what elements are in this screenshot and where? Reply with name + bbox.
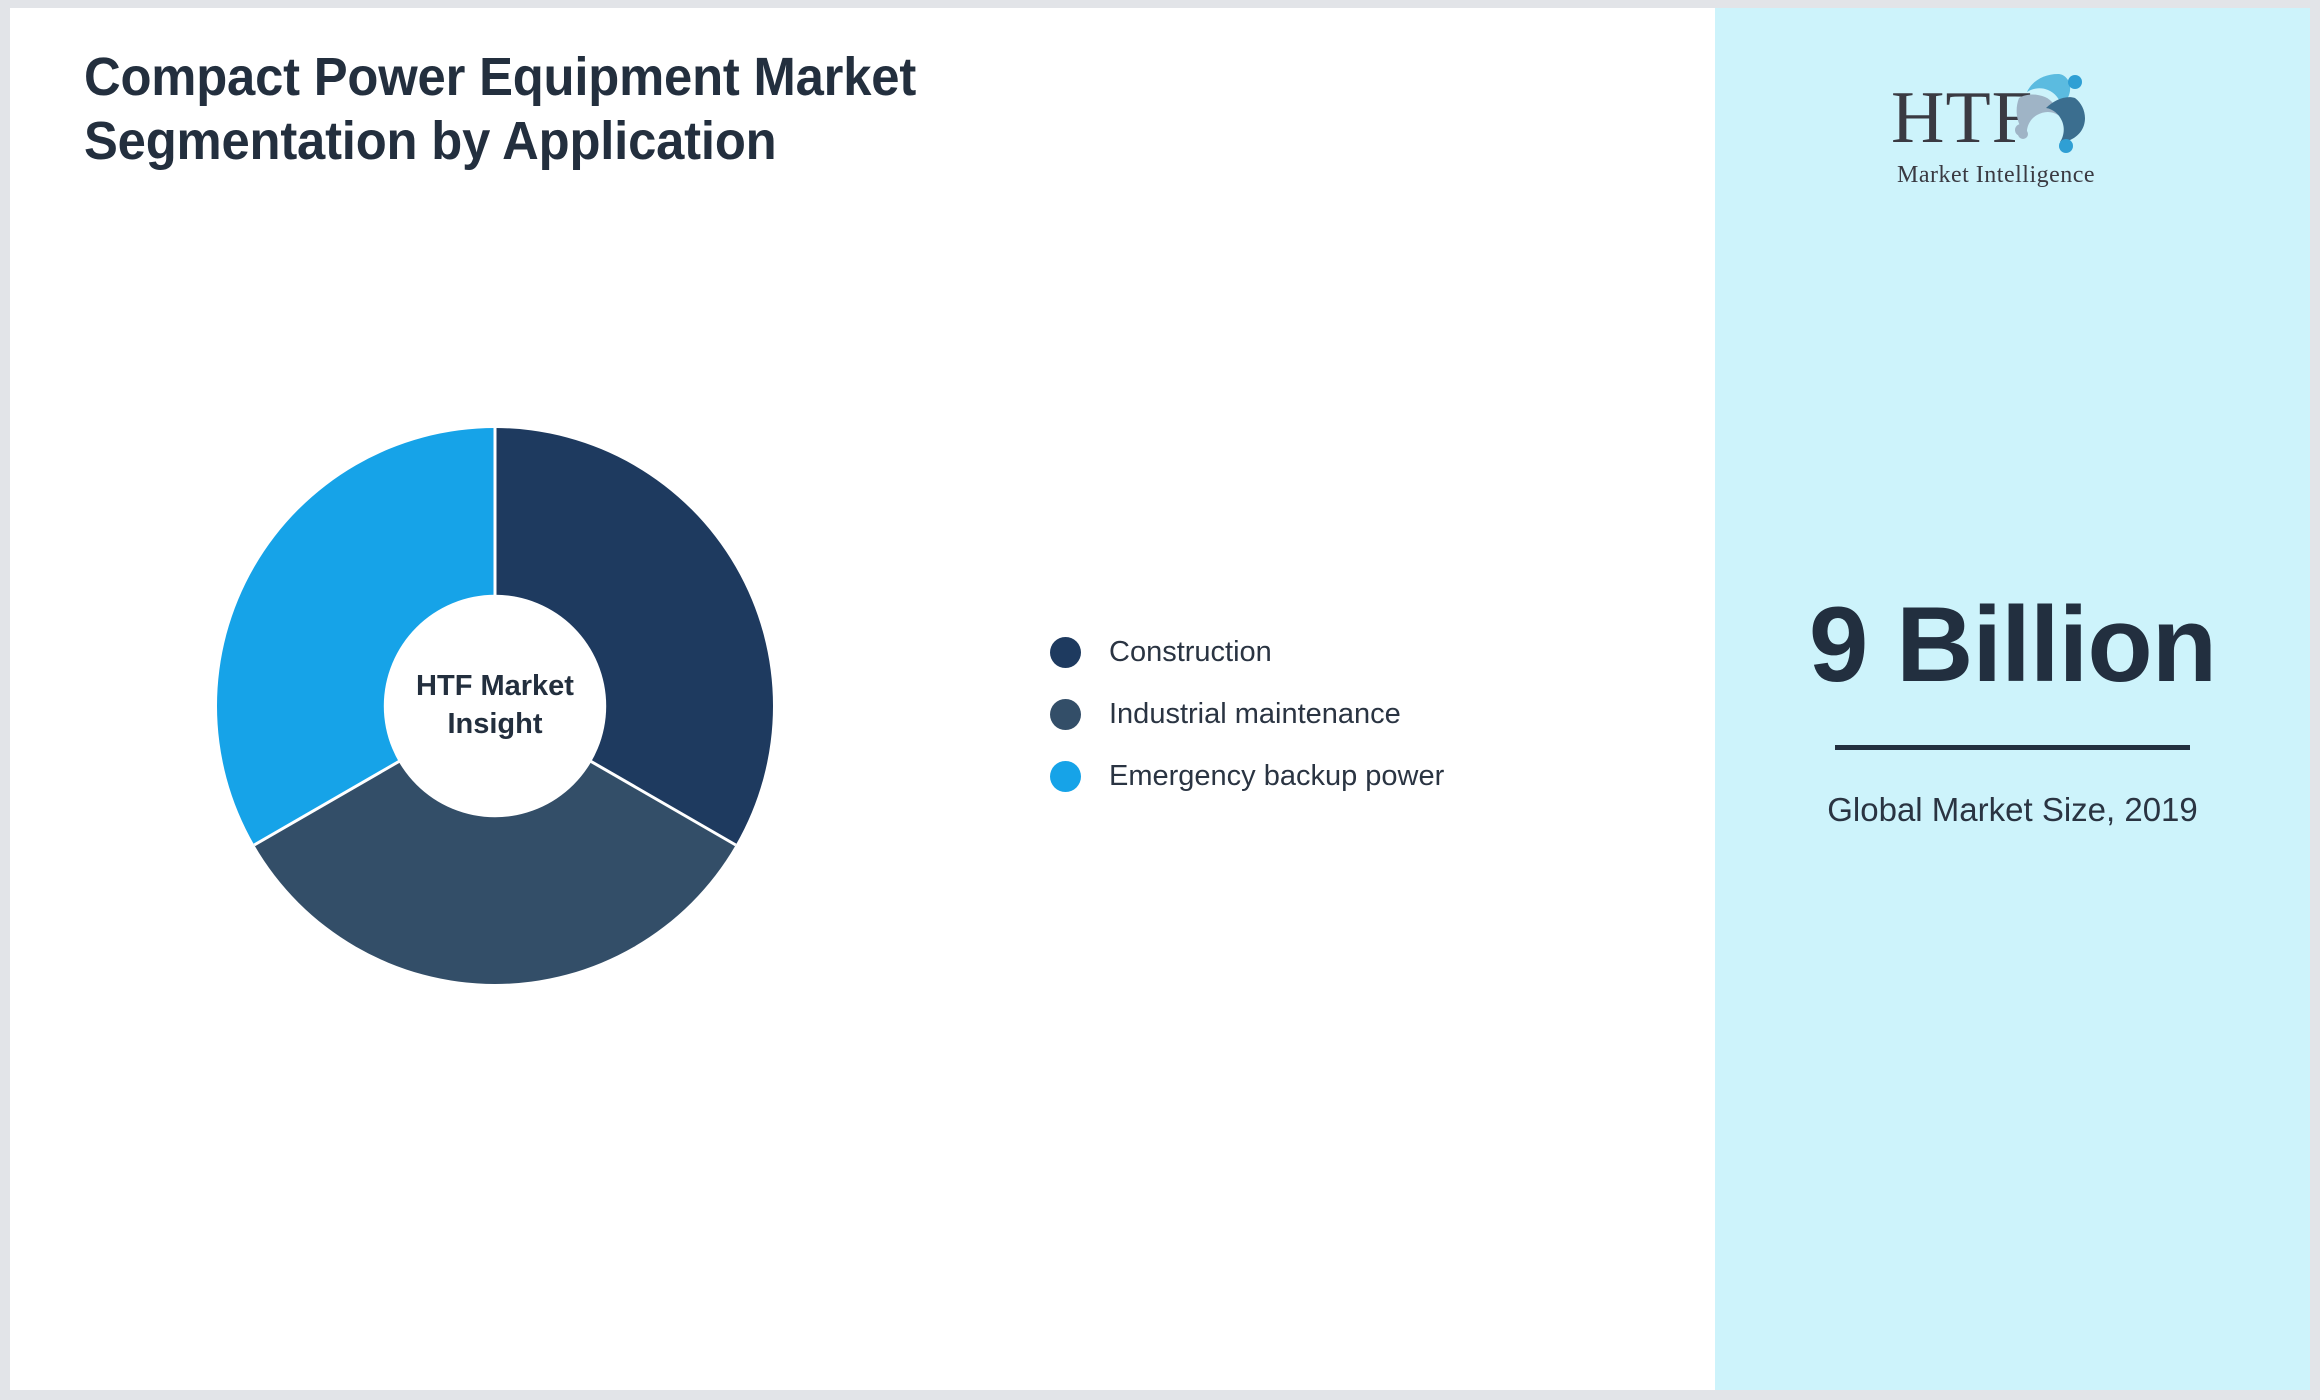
htf-logo-wordmark: HTF xyxy=(1891,77,2034,159)
legend-item-emergency-backup-power[interactable]: Emergency backup power xyxy=(1050,745,1444,807)
market-size-caption: Global Market Size, 2019 xyxy=(1715,786,2310,834)
legend-swatch-industrial-maintenance xyxy=(1050,699,1081,730)
legend-label-industrial-maintenance: Industrial maintenance xyxy=(1109,700,1401,729)
donut-chart: HTF Market Insight xyxy=(207,418,783,994)
legend-swatch-emergency-backup-power xyxy=(1050,761,1081,792)
stat-panel: HTF Market Intelligence 9 Billion G xyxy=(1715,8,2310,1390)
legend-item-construction[interactable]: Construction xyxy=(1050,621,1444,683)
callout-divider xyxy=(1835,745,2190,750)
infographic-canvas: Compact Power Equipment Market Segmentat… xyxy=(10,8,2310,1390)
htf-logo-svg: HTF Market Intelligence xyxy=(1883,60,2143,190)
market-size-callout: 9 Billion Global Market Size, 2019 xyxy=(1715,588,2310,835)
legend-swatch-construction xyxy=(1050,637,1081,668)
market-size-value: 9 Billion xyxy=(1715,588,2310,701)
htf-logo-tagline: Market Intelligence xyxy=(1897,162,2095,188)
donut-hole xyxy=(384,595,606,817)
legend-label-emergency-backup-power: Emergency backup power xyxy=(1109,762,1444,791)
donut-chart-svg xyxy=(207,418,783,994)
chart-panel: Compact Power Equipment Market Segmentat… xyxy=(10,8,1715,1390)
legend-label-construction: Construction xyxy=(1109,638,1272,667)
page-title-line-1: Compact Power Equipment Market xyxy=(84,46,1080,110)
htf-logo: HTF Market Intelligence xyxy=(1883,60,2143,190)
page-title: Compact Power Equipment Market Segmentat… xyxy=(84,46,1080,173)
page-title-line-2: Segmentation by Application xyxy=(84,110,1080,174)
legend-item-industrial-maintenance[interactable]: Industrial maintenance xyxy=(1050,683,1444,745)
chart-legend: Construction Industrial maintenance Emer… xyxy=(1050,621,1444,807)
